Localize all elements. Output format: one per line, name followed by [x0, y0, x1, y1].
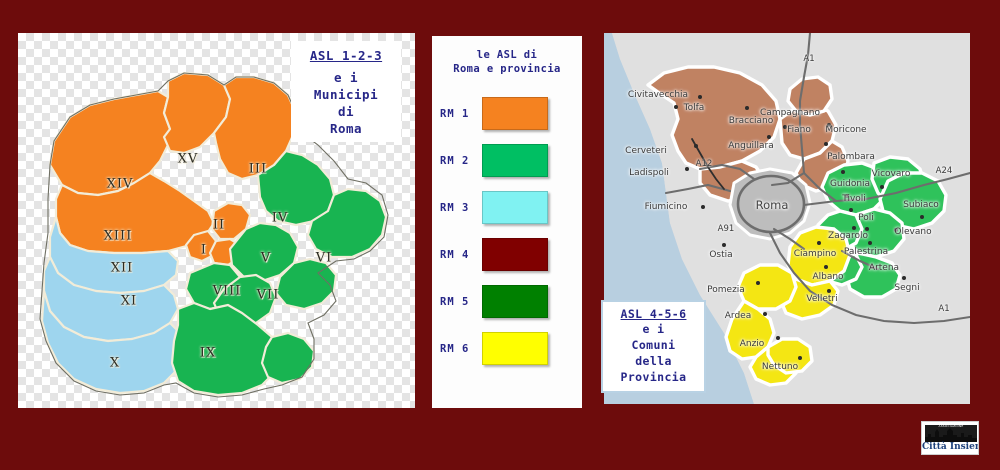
legend-swatch-rm5 — [482, 285, 548, 318]
legend-rows: RM 1 RM 2 RM 3 RM 4 RM 5 RM 6 — [432, 90, 582, 372]
right-title-line-1: e i — [603, 321, 704, 337]
legend-item-rm4[interactable]: RM 4 — [432, 231, 582, 278]
right-map-title-box: ASL 4-5-6 e i Comuni della Provincia — [601, 300, 706, 393]
legend-item-rm5[interactable]: RM 5 — [432, 278, 582, 325]
left-title-header: ASL 1-2-3 — [291, 48, 401, 63]
legend-title-line-2: Roma e provincia — [432, 62, 582, 76]
legend-label-rm4: RM 4 — [440, 249, 482, 261]
legend-label-rm5: RM 5 — [440, 296, 482, 308]
legend-label-rm6: RM 6 — [440, 343, 482, 355]
legend-item-rm2[interactable]: RM 2 — [432, 137, 582, 184]
right-title-header: ASL 4-5-6 — [603, 307, 704, 321]
left-map-title-box: ASL 1-2-3 e i Municipi di Roma — [291, 41, 401, 142]
screenshot-root: I II III IV V VI VII VIII IX X XI XII XI… — [0, 0, 1000, 470]
left-title-line-4: Roma — [291, 120, 401, 137]
citta-insieme-logo[interactable]: ASSOCIAZIONE Città Insieme — [921, 421, 979, 455]
right-title-line-2: Comuni — [603, 337, 704, 353]
legend-swatch-rm6 — [482, 332, 548, 365]
logo-name: Città Insieme — [922, 442, 979, 453]
legend-swatch-rm3 — [482, 191, 548, 224]
legend-title: le ASL di Roma e provincia — [432, 36, 582, 76]
legend-label-rm3: RM 3 — [440, 202, 482, 214]
legend-item-rm6[interactable]: RM 6 — [432, 325, 582, 372]
legend-item-rm3[interactable]: RM 3 — [432, 184, 582, 231]
legend-swatch-rm4 — [482, 238, 548, 271]
logo-tagline: ASSOCIAZIONE — [922, 424, 979, 428]
left-title-line-3: di — [291, 103, 401, 120]
legend-label-rm2: RM 2 — [440, 155, 482, 167]
asl-legend-panel: le ASL di Roma e provincia RM 1 RM 2 RM … — [432, 36, 582, 408]
right-title-line-4: Provincia — [603, 369, 704, 385]
legend-item-rm1[interactable]: RM 1 — [432, 90, 582, 137]
legend-swatch-rm1 — [482, 97, 548, 130]
left-title-line-2: Municipi — [291, 86, 401, 103]
legend-title-line-1: le ASL di — [432, 48, 582, 62]
legend-label-rm1: RM 1 — [440, 108, 482, 120]
left-title-line-1: e i — [291, 69, 401, 86]
legend-swatch-rm2 — [482, 144, 548, 177]
right-title-line-3: della — [603, 353, 704, 369]
